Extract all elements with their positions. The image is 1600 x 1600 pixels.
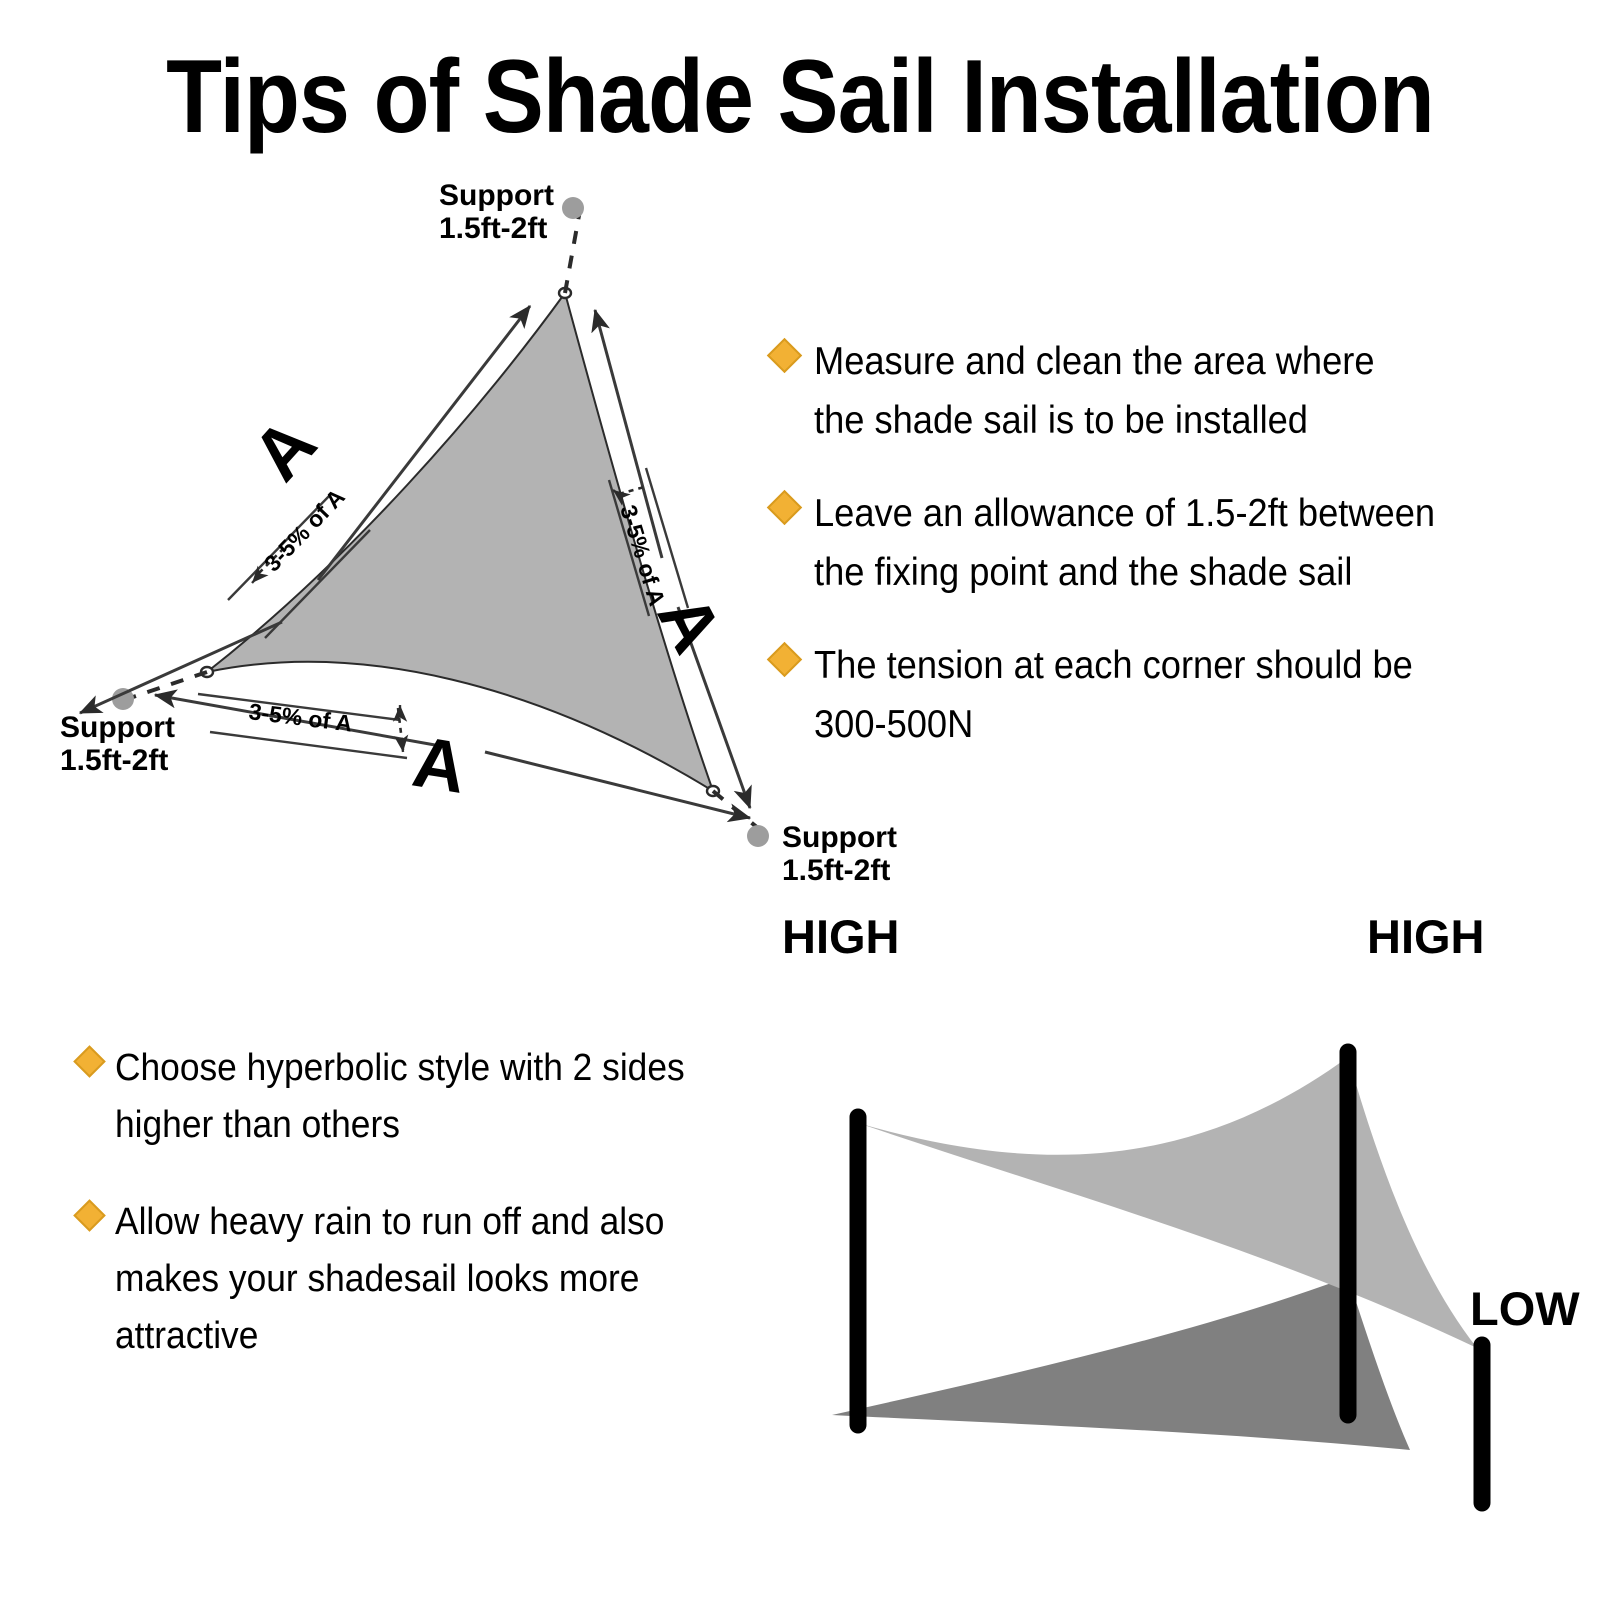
edge-label-bottom-A: A — [407, 722, 471, 809]
diamond-bullet-icon — [767, 338, 802, 373]
tip-hyperbolic-text: Choose hyperbolic style with 2 sides hig… — [115, 1040, 685, 1154]
page-title: Tips of Shade Sail Installation — [96, 42, 1504, 152]
diamond-bullet-icon — [767, 642, 802, 677]
label-post-left-high: HIGH — [782, 910, 900, 963]
support-label-bottom-right-line2: 1.5ft-2ft — [782, 854, 890, 887]
edge-label-left-A: A — [237, 404, 331, 496]
diamond-bullet-icon — [73, 1045, 106, 1078]
tips-list-left: Choose hyperbolic style with 2 sides hig… — [78, 1040, 788, 1405]
support-label-top-line1: Support — [439, 179, 554, 212]
tip-measure-clean: Measure and clean the area where the sha… — [772, 332, 1542, 450]
diamond-bullet-icon — [767, 490, 802, 525]
sail-ground-shadow — [832, 1277, 1410, 1450]
tip-rain-runoff-text: Allow heavy rain to run off and also mak… — [115, 1194, 664, 1365]
allowance-arrow-bottom-2 — [402, 743, 403, 752]
support-leader-top — [565, 210, 580, 293]
tips-list-right: Measure and clean the area where the sha… — [772, 332, 1542, 788]
support-label-left-line1: Support — [60, 711, 175, 744]
support-label-left-line2: 1.5ft-2ft — [60, 744, 168, 777]
infographic-page: Tips of Shade Sail Installation — [0, 0, 1600, 1600]
allowance-label-bottom: 3-5% of A — [247, 698, 353, 736]
label-post-front-right-low: LOW — [1470, 1282, 1580, 1335]
tip-tension-text: The tension at each corner should be 300… — [814, 636, 1413, 754]
label-post-back-right-high: HIGH — [1367, 910, 1485, 963]
support-anchor-bottom-right — [747, 825, 769, 847]
tip-hyperbolic: Choose hyperbolic style with 2 sides hig… — [78, 1040, 788, 1154]
tip-allowance: Leave an allowance of 1.5-2ft between th… — [772, 484, 1542, 602]
tip-measure-clean-text: Measure and clean the area where the sha… — [814, 332, 1375, 450]
tip-tension: The tension at each corner should be 300… — [772, 636, 1542, 754]
tip-allowance-text: Leave an allowance of 1.5-2ft between th… — [814, 484, 1435, 602]
tip-rain-runoff: Allow heavy rain to run off and also mak… — [78, 1194, 788, 1365]
support-anchor-top — [562, 197, 584, 219]
support-label-top-line2: 1.5ft-2ft — [439, 212, 547, 245]
hyperbolic-sail-shape — [858, 1057, 1477, 1348]
diamond-bullet-icon — [73, 1199, 106, 1232]
hyperbolic-shade-sail-diagram: HIGH HIGH LOW — [770, 905, 1600, 1545]
support-label-bottom-right-line1: Support — [782, 821, 897, 854]
